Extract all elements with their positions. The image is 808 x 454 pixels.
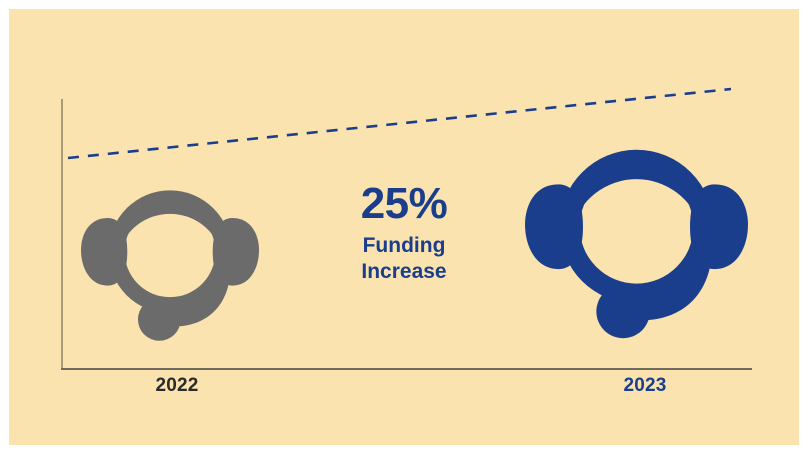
headset-icon bbox=[525, 113, 748, 346]
callout: 25% Funding Increase bbox=[309, 181, 499, 286]
callout-subtitle-line2: Increase bbox=[309, 259, 499, 285]
category-label-2022: 2022 bbox=[97, 375, 257, 397]
funding-increase-infographic: 25% Funding Increase 2022 2023 bbox=[0, 0, 808, 454]
x-axis-line bbox=[61, 368, 752, 370]
y-axis-line bbox=[61, 99, 63, 370]
percent-value: 25% bbox=[309, 181, 499, 227]
bar-glyph-2023 bbox=[525, 113, 748, 351]
chart-panel: 25% Funding Increase 2022 2023 bbox=[9, 9, 799, 445]
callout-subtitle-line1: Funding bbox=[309, 233, 499, 259]
category-label-2023: 2023 bbox=[565, 375, 725, 397]
bar-glyph-2022 bbox=[81, 161, 259, 352]
headset-icon bbox=[81, 161, 259, 347]
callout-subtitle: Funding Increase bbox=[309, 233, 499, 286]
